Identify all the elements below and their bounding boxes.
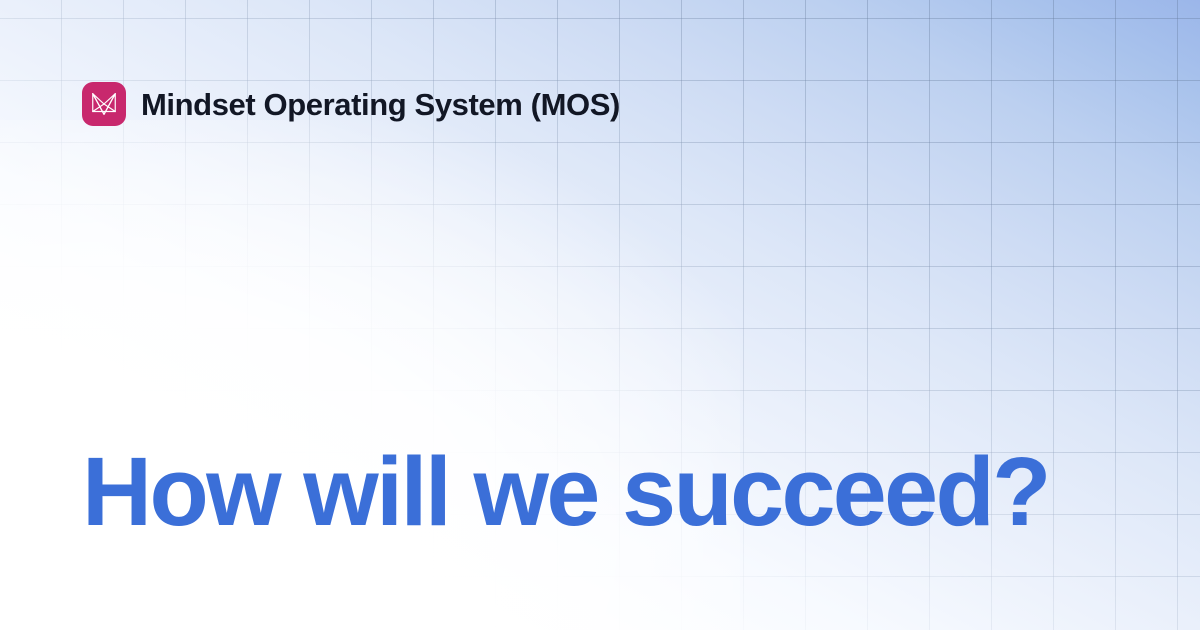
headline-text: How will we succeed? bbox=[82, 443, 1049, 540]
page-title: Mindset Operating System (MOS) bbox=[141, 89, 620, 120]
slide-canvas: Mindset Operating System (MOS) How will … bbox=[0, 0, 1200, 630]
brand-lockup: Mindset Operating System (MOS) bbox=[82, 82, 620, 126]
slide-content: Mindset Operating System (MOS) How will … bbox=[0, 0, 1200, 630]
mindset-origami-m-logo-icon bbox=[82, 82, 126, 126]
